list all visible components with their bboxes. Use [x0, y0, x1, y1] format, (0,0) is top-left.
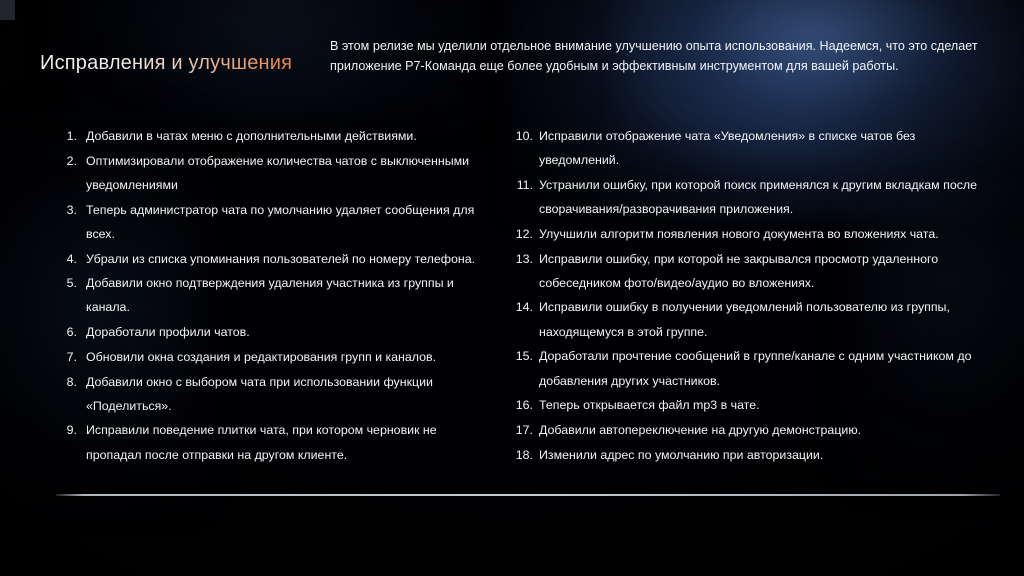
list-item-text: Теперь администратор чата по умолчанию у…	[86, 198, 493, 246]
list-item-number: 8.	[60, 370, 77, 394]
list-item-number: 9.	[60, 418, 77, 442]
list-item-text: Добавили окно подтверждения удаления уча…	[86, 271, 493, 319]
list-item-text: Исправили ошибку, при которой не закрыва…	[539, 247, 984, 295]
list-item: 15. Доработали прочтение сообщений в гру…	[511, 344, 984, 392]
list-item-number: 17.	[511, 418, 533, 442]
slide-footer: P7 АО "Р7" Россия, 603152, г. Нижний Нов…	[0, 500, 1024, 576]
list-item-text: Исправили поведение плитки чата, при кот…	[86, 418, 493, 466]
list-item: 12. Улучшили алгоритм появления нового д…	[511, 222, 984, 246]
intro-paragraph: В этом релизе мы уделили отдельное внима…	[330, 36, 1002, 76]
list-item-number: 13.	[511, 247, 533, 271]
list-item-number: 11.	[511, 173, 533, 197]
list-item: 16. Теперь открывается файл mp3 в чате.	[511, 393, 984, 417]
slide-header: Исправления и улучшения В этом релизе мы…	[0, 0, 1024, 100]
content-columns: 1. Добавили в чатах меню с дополнительны…	[0, 124, 1024, 480]
list-item-number: 14.	[511, 295, 533, 319]
list-item: 8. Добавили окно с выбором чата при испо…	[60, 370, 493, 418]
list-item-number: 7.	[60, 345, 77, 369]
right-column: 10. Исправили отображение чата «Уведомле…	[505, 124, 1024, 467]
list-item-number: 15.	[511, 344, 533, 368]
list-item-text: Устранили ошибку, при которой поиск прим…	[539, 173, 984, 221]
list-item-text: Доработали прочтение сообщений в группе/…	[539, 344, 984, 392]
list-item-text: Обновили окна создания и редактирования …	[86, 345, 493, 369]
list-item-text: Улучшили алгоритм появления нового докум…	[539, 222, 984, 246]
list-item: 5. Добавили окно подтверждения удаления …	[60, 271, 493, 319]
list-item-number: 6.	[60, 320, 77, 344]
list-item: 17. Добавили автопереключение на другую …	[511, 418, 984, 442]
page-title: Исправления и улучшения	[40, 52, 292, 75]
list-item-text: Теперь открывается файл mp3 в чате.	[539, 393, 984, 417]
list-item: 18. Изменили адрес по умолчанию при авто…	[511, 443, 984, 467]
list-item-number: 16.	[511, 393, 533, 417]
left-column: 1. Добавили в чатах меню с дополнительны…	[0, 124, 505, 467]
list-item-text: Исправили ошибку в получении уведомлений…	[539, 295, 984, 343]
list-item: 3. Теперь администратор чата по умолчани…	[60, 198, 493, 246]
list-item-number: 3.	[60, 198, 77, 222]
list-item-text: Изменили адрес по умолчанию при авториза…	[539, 443, 984, 467]
list-item: 14. Исправили ошибку в получении уведомл…	[511, 295, 984, 343]
list-item-number: 1.	[60, 124, 77, 148]
list-item: 6. Доработали профили чатов.	[60, 320, 493, 344]
list-item: 11. Устранили ошибку, при которой поиск …	[511, 173, 984, 221]
list-item-text: Добавили в чатах меню с дополнительными …	[86, 124, 493, 148]
list-item: 7. Обновили окна создания и редактирован…	[60, 345, 493, 369]
changelog-list-right: 10. Исправили отображение чата «Уведомле…	[511, 124, 984, 467]
list-item-text: Оптимизировали отображение количества ча…	[86, 149, 493, 197]
list-item: 1. Добавили в чатах меню с дополнительны…	[60, 124, 493, 148]
list-item-number: 4.	[60, 247, 77, 271]
changelog-list-left: 1. Добавили в чатах меню с дополнительны…	[60, 124, 493, 467]
list-item-text: Убрали из списка упоминания пользователе…	[86, 247, 493, 271]
list-item-number: 12.	[511, 222, 533, 246]
list-item-number: 2.	[60, 149, 77, 173]
list-item-number: 18.	[511, 443, 533, 467]
list-item-text: Добавили автопереключение на другую демо…	[539, 418, 984, 442]
list-item-text: Доработали профили чатов.	[86, 320, 493, 344]
list-item-text: Добавили окно с выбором чата при использ…	[86, 370, 493, 418]
list-item: 2. Оптимизировали отображение количества…	[60, 149, 493, 197]
list-item: 4. Убрали из списка упоминания пользоват…	[60, 247, 493, 271]
list-item: 10. Исправили отображение чата «Уведомле…	[511, 124, 984, 172]
presentation-slide: Исправления и улучшения В этом релизе мы…	[0, 0, 1024, 576]
list-item-number: 10.	[511, 124, 533, 148]
footer-divider	[56, 494, 1000, 496]
list-item: 13. Исправили ошибку, при которой не зак…	[511, 247, 984, 295]
list-item: 9. Исправили поведение плитки чата, при …	[60, 418, 493, 466]
list-item-number: 5.	[60, 271, 77, 295]
list-item-text: Исправили отображение чата «Уведомления»…	[539, 124, 984, 172]
